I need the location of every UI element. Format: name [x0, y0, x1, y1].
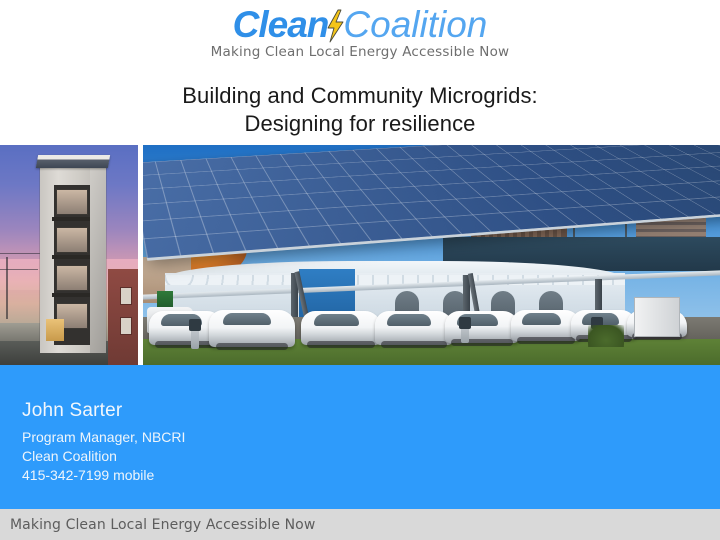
window	[120, 317, 132, 335]
balcony	[52, 217, 90, 221]
balcony	[52, 293, 90, 297]
photo-dusk-building	[0, 145, 138, 365]
presenter-organization: Clean Coalition	[22, 447, 185, 466]
presentation-slide: CleanCoalition Making Clean Local Energy…	[0, 0, 720, 540]
presenter-title: Program Manager, NBCRI	[22, 428, 185, 447]
logo-wordmark: CleanCoalition	[233, 6, 488, 43]
utility-pole	[6, 257, 8, 319]
page-title: Building and Community Microgrids: Desig…	[0, 82, 720, 138]
logo-word-coalition: Coalition	[343, 4, 487, 45]
lightning-bolt-icon	[325, 9, 345, 43]
presenter-name: John Sarter	[22, 401, 122, 420]
rooftop-solar-canopy	[36, 155, 110, 168]
tower-shading	[90, 163, 106, 353]
logo-tagline: Making Clean Local Energy Accessible Now	[0, 44, 720, 60]
presenter-details: Program Manager, NBCRI Clean Coalition 4…	[22, 428, 185, 485]
title-line-1: Building and Community Microgrids:	[0, 82, 720, 110]
power-line	[0, 253, 44, 254]
electric-car	[209, 310, 295, 347]
window	[56, 265, 88, 291]
footer-band: Making Clean Local Energy Accessible Now	[0, 509, 720, 540]
window	[56, 227, 88, 253]
footer-tagline: Making Clean Local Energy Accessible Now	[10, 517, 315, 533]
ev-charging-station	[191, 319, 199, 349]
title-line-2: Designing for resilience	[0, 110, 720, 138]
ev-charging-station	[461, 317, 469, 343]
adjacent-red-building	[108, 269, 138, 365]
window	[56, 189, 88, 215]
window	[120, 287, 132, 305]
presenter-band: John Sarter Program Manager, NBCRI Clean…	[0, 365, 720, 509]
image-band	[0, 145, 720, 365]
balcony	[52, 255, 90, 259]
entry-door-light	[46, 319, 64, 341]
photo-solar-carport	[143, 145, 720, 365]
electric-car	[301, 311, 381, 345]
clean-coalition-logo: CleanCoalition Making Clean Local Energy…	[0, 6, 720, 60]
electric-car	[375, 311, 453, 345]
electrical-cabinet	[634, 297, 680, 337]
shrub	[588, 325, 624, 347]
logo-word-clean: Clean	[233, 4, 329, 45]
electric-car	[445, 311, 519, 343]
presenter-phone: 415-342-7199 mobile	[22, 466, 185, 485]
